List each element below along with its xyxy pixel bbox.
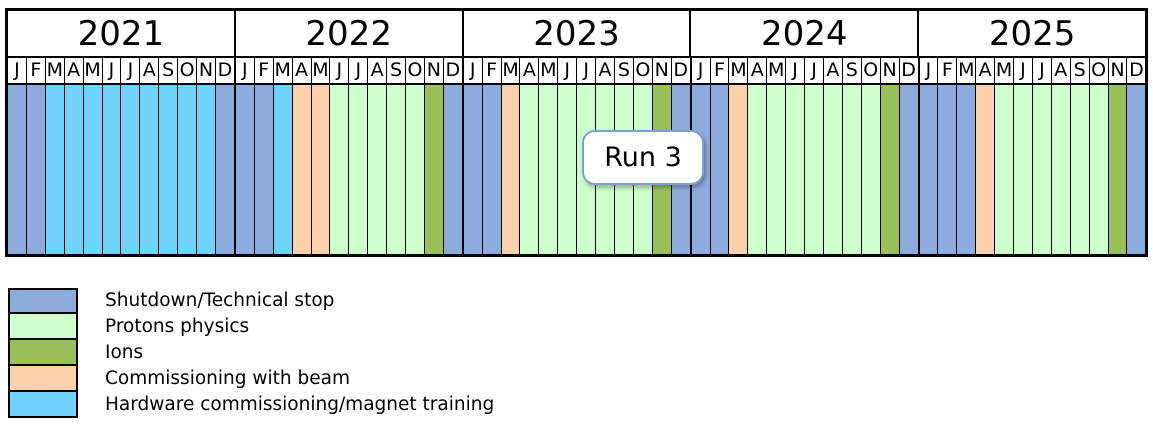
activity-cell-2021-1-shutdown bbox=[8, 85, 27, 254]
activity-cell-2021-4-hardware bbox=[65, 85, 84, 254]
activity-cell-2023-4-protons bbox=[520, 85, 539, 254]
month-label-2023-6: J bbox=[558, 58, 577, 83]
activity-cell-2021-9-hardware bbox=[159, 85, 178, 254]
activity-cell-2025-11-ions bbox=[1109, 85, 1128, 254]
activity-cell-2025-12-shutdown bbox=[1127, 85, 1145, 254]
activity-cell-2021-5-hardware bbox=[84, 85, 103, 254]
activity-cell-2024-3-commissioning bbox=[729, 85, 748, 254]
legend-label-shutdown: Shutdown/Technical stop bbox=[105, 292, 334, 311]
month-label-2023-2: F bbox=[483, 58, 502, 83]
month-label-2021-6: J bbox=[103, 58, 122, 83]
month-label-2021-3: M bbox=[46, 58, 65, 83]
activity-cell-2021-11-hardware bbox=[197, 85, 216, 254]
year-header-row: 20212022202320242025 bbox=[8, 11, 1145, 56]
year-label-2021: 2021 bbox=[8, 11, 236, 56]
month-label-2024-1: J bbox=[692, 58, 711, 83]
activity-cell-2024-10-protons bbox=[862, 85, 881, 254]
activity-cell-2024-4-protons bbox=[748, 85, 767, 254]
month-label-2024-10: O bbox=[862, 58, 881, 83]
activity-cell-2022-10-protons bbox=[406, 85, 425, 254]
activity-band-row bbox=[8, 85, 1145, 254]
activity-cell-2022-9-protons bbox=[387, 85, 406, 254]
legend-label-hardware: Hardware commissioning/magnet training bbox=[105, 396, 494, 415]
month-label-2021-4: A bbox=[65, 58, 84, 83]
activity-cell-2023-1-shutdown bbox=[464, 85, 483, 254]
year-label-2022: 2022 bbox=[236, 11, 464, 56]
run3-callout-label: Run 3 bbox=[604, 142, 682, 173]
month-label-2021-12: D bbox=[216, 58, 236, 83]
month-label-2022-4: A bbox=[293, 58, 312, 83]
month-label-2021-10: O bbox=[178, 58, 197, 83]
activity-cell-2021-8-hardware bbox=[140, 85, 159, 254]
month-label-2025-10: O bbox=[1090, 58, 1109, 83]
legend: Shutdown/Technical stopProtons physicsIo… bbox=[8, 288, 648, 418]
legend-item-shutdown: Shutdown/Technical stop bbox=[8, 288, 648, 314]
activity-cell-2024-7-protons bbox=[805, 85, 824, 254]
legend-item-hardware: Hardware commissioning/magnet training bbox=[8, 392, 648, 418]
month-label-2022-12: D bbox=[444, 58, 464, 83]
month-label-2022-2: F bbox=[255, 58, 274, 83]
month-label-2024-8: A bbox=[824, 58, 843, 83]
activity-cell-2022-11-ions bbox=[425, 85, 444, 254]
activity-cell-2024-2-shutdown bbox=[711, 85, 730, 254]
activity-cell-2023-6-protons bbox=[558, 85, 577, 254]
month-label-2022-1: J bbox=[236, 58, 255, 83]
month-label-2023-7: J bbox=[577, 58, 596, 83]
legend-item-commissioning: Commissioning with beam bbox=[8, 366, 648, 392]
month-label-2025-2: F bbox=[938, 58, 957, 83]
month-label-2021-1: J bbox=[8, 58, 27, 83]
month-label-2025-12: D bbox=[1127, 58, 1145, 83]
legend-label-commissioning: Commissioning with beam bbox=[105, 370, 350, 389]
activity-cell-2023-3-commissioning bbox=[502, 85, 521, 254]
month-label-2022-10: O bbox=[406, 58, 425, 83]
activity-cell-2021-7-hardware bbox=[121, 85, 140, 254]
activity-cell-2022-8-protons bbox=[368, 85, 387, 254]
month-label-2022-3: M bbox=[274, 58, 293, 83]
legend-swatch-commissioning bbox=[8, 366, 78, 392]
month-label-2025-9: S bbox=[1071, 58, 1090, 83]
year-label-2024: 2024 bbox=[691, 11, 919, 56]
activity-cell-2024-5-protons bbox=[767, 85, 786, 254]
month-label-2023-3: M bbox=[502, 58, 521, 83]
activity-cell-2021-10-hardware bbox=[178, 85, 197, 254]
activity-cell-2022-12-shutdown bbox=[444, 85, 464, 254]
activity-cell-2021-2-shutdown bbox=[27, 85, 46, 254]
month-label-2024-5: M bbox=[767, 58, 786, 83]
activity-cell-2021-3-hardware bbox=[46, 85, 65, 254]
month-label-2022-9: S bbox=[387, 58, 406, 83]
month-label-2025-3: M bbox=[957, 58, 976, 83]
activity-cell-2021-12-shutdown bbox=[216, 85, 236, 254]
month-label-2023-5: M bbox=[539, 58, 558, 83]
month-label-2022-7: J bbox=[349, 58, 368, 83]
month-label-2023-11: N bbox=[653, 58, 672, 83]
legend-swatch-protons bbox=[8, 314, 78, 340]
activity-cell-2024-11-ions bbox=[881, 85, 900, 254]
legend-swatch-shutdown bbox=[8, 288, 78, 314]
month-label-2022-8: A bbox=[368, 58, 387, 83]
month-label-2025-4: A bbox=[976, 58, 995, 83]
year-label-2023: 2023 bbox=[464, 11, 692, 56]
month-label-2021-9: S bbox=[159, 58, 178, 83]
activity-cell-2025-5-protons bbox=[995, 85, 1014, 254]
month-label-2024-6: J bbox=[786, 58, 805, 83]
legend-item-ions: Ions bbox=[8, 340, 648, 366]
month-label-2024-7: J bbox=[805, 58, 824, 83]
activity-cell-2025-4-commissioning bbox=[976, 85, 995, 254]
legend-item-protons: Protons physics bbox=[8, 314, 648, 340]
activity-cell-2024-8-protons bbox=[824, 85, 843, 254]
activity-cell-2022-4-commissioning bbox=[293, 85, 312, 254]
month-label-2025-7: J bbox=[1033, 58, 1052, 83]
month-label-2025-5: M bbox=[995, 58, 1014, 83]
activity-cell-2025-3-shutdown bbox=[957, 85, 976, 254]
month-label-2022-11: N bbox=[425, 58, 444, 83]
activity-cell-2025-7-protons bbox=[1033, 85, 1052, 254]
month-label-2024-11: N bbox=[881, 58, 900, 83]
month-header-row: JFMAMJJASONDJFMAMJJASONDJFMAMJJASONDJFMA… bbox=[8, 56, 1145, 85]
month-label-2023-10: O bbox=[634, 58, 653, 83]
month-label-2023-9: S bbox=[615, 58, 634, 83]
month-label-2025-11: N bbox=[1109, 58, 1128, 83]
month-label-2021-2: F bbox=[27, 58, 46, 83]
activity-cell-2024-9-protons bbox=[843, 85, 862, 254]
activity-cell-2024-6-protons bbox=[786, 85, 805, 254]
legend-label-ions: Ions bbox=[105, 344, 143, 363]
month-label-2024-3: M bbox=[729, 58, 748, 83]
month-label-2023-8: A bbox=[596, 58, 615, 83]
activity-cell-2022-1-shutdown bbox=[236, 85, 255, 254]
month-label-2023-4: A bbox=[520, 58, 539, 83]
activity-cell-2025-1-shutdown bbox=[920, 85, 939, 254]
lhc-schedule-timeline: 20212022202320242025 JFMAMJJASONDJFMAMJJ… bbox=[5, 8, 1148, 257]
month-label-2023-1: J bbox=[464, 58, 483, 83]
activity-cell-2025-2-shutdown bbox=[938, 85, 957, 254]
month-label-2022-6: J bbox=[330, 58, 349, 83]
activity-cell-2022-3-hardware bbox=[274, 85, 293, 254]
month-label-2025-1: J bbox=[920, 58, 939, 83]
activity-cell-2022-2-shutdown bbox=[255, 85, 274, 254]
legend-label-protons: Protons physics bbox=[105, 318, 249, 337]
month-label-2021-5: M bbox=[84, 58, 103, 83]
month-label-2025-8: A bbox=[1052, 58, 1071, 83]
activity-cell-2021-6-hardware bbox=[103, 85, 122, 254]
activity-cell-2025-6-protons bbox=[1014, 85, 1033, 254]
legend-swatch-ions bbox=[8, 340, 78, 366]
legend-swatch-hardware bbox=[8, 392, 78, 418]
activity-cell-2025-9-protons bbox=[1071, 85, 1090, 254]
activity-cell-2023-5-protons bbox=[539, 85, 558, 254]
month-label-2024-9: S bbox=[843, 58, 862, 83]
year-label-2025: 2025 bbox=[919, 11, 1145, 56]
activity-cell-2023-2-shutdown bbox=[483, 85, 502, 254]
month-label-2021-7: J bbox=[121, 58, 140, 83]
month-label-2025-6: J bbox=[1014, 58, 1033, 83]
month-label-2024-4: A bbox=[748, 58, 767, 83]
month-label-2022-5: M bbox=[312, 58, 331, 83]
activity-cell-2024-12-shutdown bbox=[900, 85, 920, 254]
activity-cell-2022-7-protons bbox=[349, 85, 368, 254]
month-label-2021-8: A bbox=[140, 58, 159, 83]
activity-cell-2022-5-commissioning bbox=[312, 85, 331, 254]
month-label-2021-11: N bbox=[197, 58, 216, 83]
activity-cell-2022-6-protons bbox=[330, 85, 349, 254]
activity-cell-2025-8-protons bbox=[1052, 85, 1071, 254]
month-label-2024-12: D bbox=[900, 58, 920, 83]
month-label-2024-2: F bbox=[711, 58, 730, 83]
run3-callout: Run 3 bbox=[582, 130, 704, 185]
month-label-2023-12: D bbox=[672, 58, 692, 83]
activity-cell-2025-10-protons bbox=[1090, 85, 1109, 254]
